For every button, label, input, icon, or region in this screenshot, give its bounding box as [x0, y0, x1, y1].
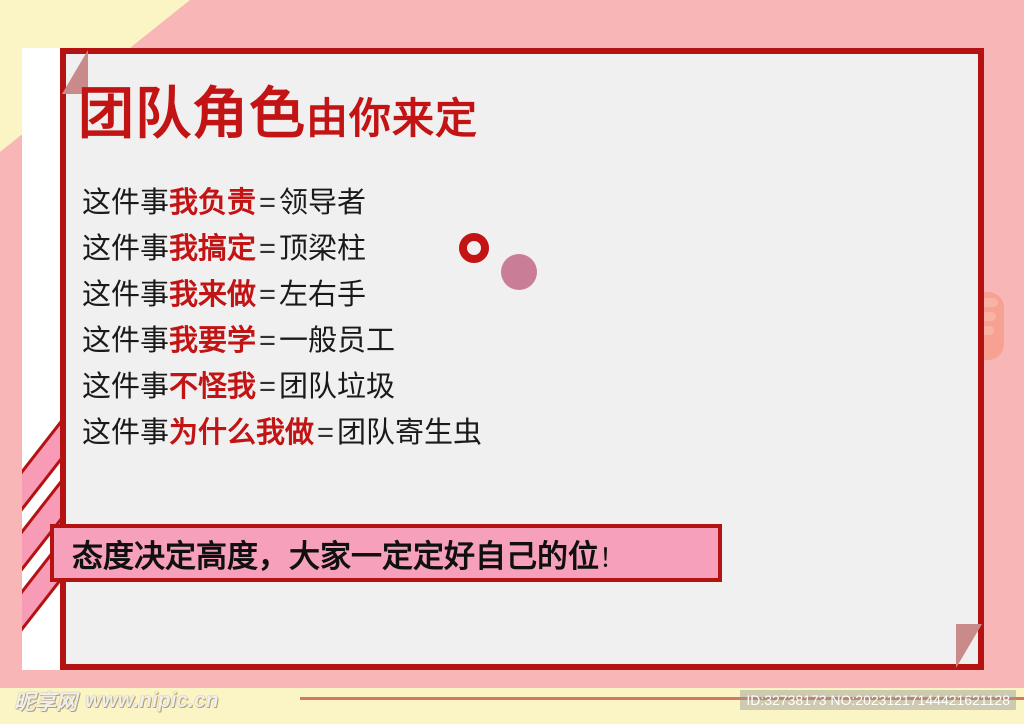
row-prefix: 这件事 — [82, 325, 169, 357]
row-prefix: 这件事 — [82, 371, 169, 403]
decor-dot-icon — [501, 254, 537, 290]
row-equals: = — [256, 371, 279, 403]
row-equals: = — [256, 279, 279, 311]
watermark-site-name: 昵享网 — [14, 686, 77, 716]
row-prefix: 这件事 — [82, 279, 169, 311]
watermark-id: ID:32738173 NO:20231217144421621128 — [740, 690, 1016, 710]
row-prefix: 这件事 — [82, 417, 169, 449]
row-prefix: 这件事 — [82, 187, 169, 219]
row-equals: = — [256, 187, 279, 219]
slogan-text: 态度决定高度，大家一定定好自己的位！ — [54, 531, 625, 576]
list-item: 这件事我来做=左右手 — [82, 272, 562, 318]
row-highlight: 我负责 — [169, 187, 256, 219]
list-item: 这件事为什么我做=团队寄生虫 — [82, 410, 562, 456]
watermark-brand: 昵享网 www.nipic.cn — [14, 686, 218, 716]
title-secondary: 由你来定 — [306, 95, 478, 142]
row-result: 团队寄生虫 — [337, 417, 482, 449]
list-item: 这件事我搞定=顶梁柱 — [82, 226, 562, 272]
row-highlight: 我要学 — [169, 325, 256, 357]
row-highlight: 我来做 — [169, 279, 256, 311]
slogan-mark: ！ — [599, 543, 625, 573]
list-item: 这件事不怪我=团队垃圾 — [82, 364, 562, 410]
row-prefix: 这件事 — [82, 233, 169, 265]
row-highlight: 不怪我 — [169, 371, 256, 403]
row-equals: = — [256, 233, 279, 265]
row-highlight: 为什么我做 — [169, 417, 314, 449]
row-result: 顶梁柱 — [279, 233, 366, 265]
row-equals: = — [314, 417, 337, 449]
row-equals: = — [256, 325, 279, 357]
decor-ring-icon — [459, 233, 489, 263]
row-result: 左右手 — [279, 279, 366, 311]
page-title: 团队角色由你来定 — [78, 86, 478, 147]
list-item: 这件事我要学=一般员工 — [82, 318, 562, 364]
slogan-main: 态度决定高度，大家一定定好自己的位 — [72, 539, 599, 574]
list-item: 这件事我负责=领导者 — [82, 180, 562, 226]
row-highlight: 我搞定 — [169, 233, 256, 265]
watermark-url: www.nipic.cn — [85, 689, 218, 713]
row-result: 领导者 — [279, 187, 366, 219]
title-primary: 团队角色 — [78, 82, 306, 145]
row-result: 一般员工 — [279, 325, 395, 357]
poster-canvas: 领导者 顶梁柱 左右手 一般员工 团队垃圾 团队寄生虫 团队角色由你来定 这件事… — [0, 0, 1024, 724]
row-result: 团队垃圾 — [279, 371, 395, 403]
role-list: 这件事我负责=领导者 这件事我搞定=顶梁柱 这件事我来做=左右手 这件事我要学=… — [82, 180, 562, 456]
slogan-banner: 态度决定高度，大家一定定好自己的位！ — [50, 524, 722, 582]
